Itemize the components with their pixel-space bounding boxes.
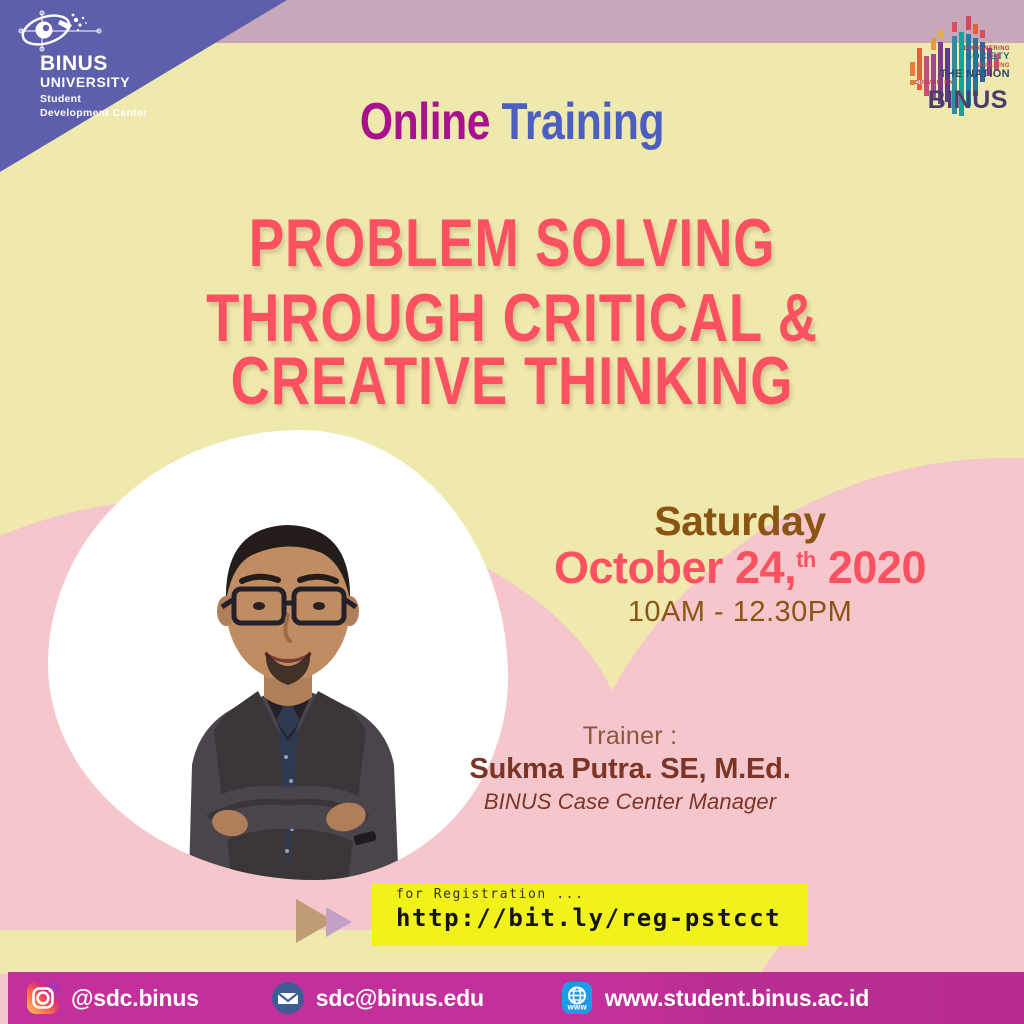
instagram-icon <box>26 981 60 1015</box>
envelope-icon <box>271 981 305 1015</box>
sdc-logo-university: UNIVERSITY <box>40 74 184 90</box>
arrow-small-icon <box>326 907 352 937</box>
eyebrow-title: Online Training <box>92 92 932 152</box>
footer-website[interactable]: WWW www.student.binus.ac.id <box>560 981 869 1015</box>
headline-line-1: PROBLEM SOLVING <box>113 212 912 275</box>
event-date-ordinal: th <box>796 547 816 572</box>
trainer-name: Sukma Putra. SE, M.Ed. <box>430 753 830 786</box>
footer-email-address: sdc@binus.edu <box>316 985 484 1012</box>
globe-www-icon: WWW <box>560 981 594 1015</box>
registration-label: for Registration ... <box>396 887 808 902</box>
eyebrow-training: Training <box>502 93 665 151</box>
headline-line-2: THROUGH CRITICAL & CREATIVE THINKING <box>102 287 921 413</box>
event-day: Saturday <box>520 500 960 543</box>
event-date: October 24,th 2020 <box>520 543 960 593</box>
tagline-society: SOCIETY <box>940 52 1010 62</box>
footer-website-url: www.student.binus.ac.id <box>605 985 869 1012</box>
svg-text:WWW: WWW <box>567 1005 587 1012</box>
event-time: 10AM - 12.30PM <box>520 593 960 632</box>
trainer-role: BINUS Case Center Manager <box>430 789 830 815</box>
footer-email[interactable]: sdc@binus.edu <box>271 981 484 1015</box>
event-date-block: Saturday October 24,th 2020 10AM - 12.30… <box>520 500 960 633</box>
registration-banner[interactable]: for Registration ... http://bit.ly/reg-p… <box>372 883 808 946</box>
trainer-block: Trainer : Sukma Putra. SE, M.Ed. BINUS C… <box>430 722 830 815</box>
footer-instagram[interactable]: @sdc.binus <box>26 981 199 1015</box>
event-date-year: 2020 <box>828 542 926 593</box>
contact-footer: @sdc.binus sdc@binus.edu WWW www.student… <box>8 972 1024 1024</box>
registration-url[interactable]: http://bit.ly/reg-pstcct <box>396 904 808 932</box>
binus-eye-logo-icon <box>14 10 134 52</box>
footer-instagram-handle: @sdc.binus <box>71 985 199 1012</box>
page-title: PROBLEM SOLVING THROUGH CRITICAL & CREAT… <box>0 212 1024 414</box>
nation-brand-binus: BINUS <box>928 86 1008 115</box>
event-date-main: October 24, <box>554 542 796 593</box>
nation-logo-tagline: EMPOWERING SOCIETY BUILDING THE NATION <box>940 46 1010 81</box>
poster-canvas: BINUS UNIVERSITY Student Development Cen… <box>0 0 1024 1024</box>
eyebrow-online: Online <box>360 93 490 151</box>
sdc-logo-binus: BINUS <box>40 53 184 74</box>
trainer-label: Trainer : <box>430 722 830 751</box>
